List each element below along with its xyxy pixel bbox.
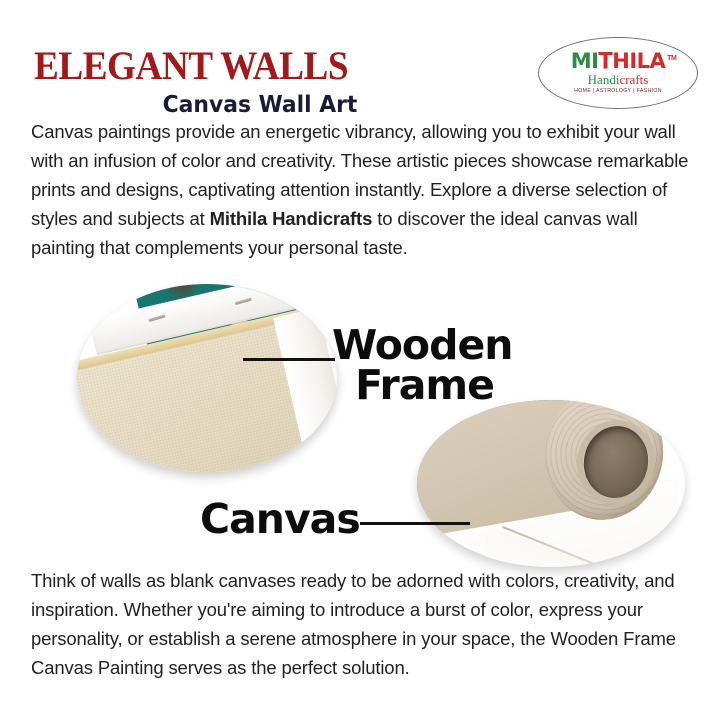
leader-line-canvas — [360, 522, 470, 525]
trademark-icon: TM — [667, 48, 676, 69]
logo-wordmark: MITHILATM — [571, 51, 666, 72]
roll-scene — [417, 400, 685, 567]
closing-paragraph: Think of walls as blank canvases ready t… — [31, 566, 693, 682]
logo-handi: Handi — [588, 72, 620, 87]
logo-t: T — [598, 50, 612, 72]
infographic-page: ELEGANT WALLS MITHILATM Handicrafts HOME… — [0, 0, 720, 720]
page-title: ELEGANT WALLS — [34, 46, 348, 86]
leader-line-wooden-frame — [243, 358, 335, 361]
logo-content: MITHILATM Handicrafts HOME | ASTROLOGY |… — [538, 37, 698, 109]
staple-icon — [319, 284, 336, 289]
figure-canvas-roll — [417, 400, 685, 567]
logo-tagline: HOME | ASTROLOGY | FASHION — [574, 88, 662, 95]
frame-scene — [77, 284, 337, 472]
staple-icon — [148, 314, 165, 322]
callout-wooden-frame: Wooden Frame — [332, 326, 517, 406]
figure-frame-closeup — [77, 284, 337, 472]
staple-icon — [235, 298, 252, 306]
callout-canvas: Canvas — [200, 500, 360, 540]
callout-wooden-frame-line2: Frame — [332, 366, 517, 406]
logo-hila: HILA — [612, 49, 665, 73]
logo-subtext: Handicrafts — [588, 73, 649, 87]
page-subtitle: Canvas Wall Art — [47, 92, 473, 118]
logo-crafts: crafts — [619, 72, 648, 87]
logo-mi: MI — [571, 49, 599, 73]
intro-paragraph: Canvas paintings provide an energetic vi… — [31, 117, 693, 262]
brand-logo: MITHILATM Handicrafts HOME | ASTROLOGY |… — [538, 37, 698, 109]
brand-mention: Mithila Handicrafts — [210, 208, 373, 229]
subtitle-container: Canvas Wall Art — [36, 92, 484, 118]
